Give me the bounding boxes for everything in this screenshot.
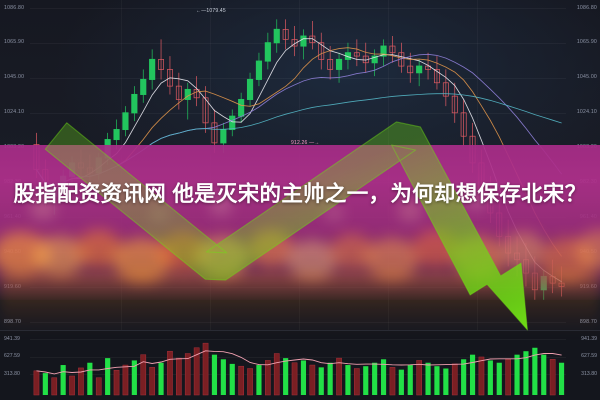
screenshot-root: 1086.801065.901045.001024.101003.20982.3… (0, 0, 600, 400)
page-title: 股指配资资讯网 他是灭宋的主帅之一，为何却想保存北宋？ (8, 179, 592, 210)
zigzag-down-arrow (45, 122, 527, 330)
